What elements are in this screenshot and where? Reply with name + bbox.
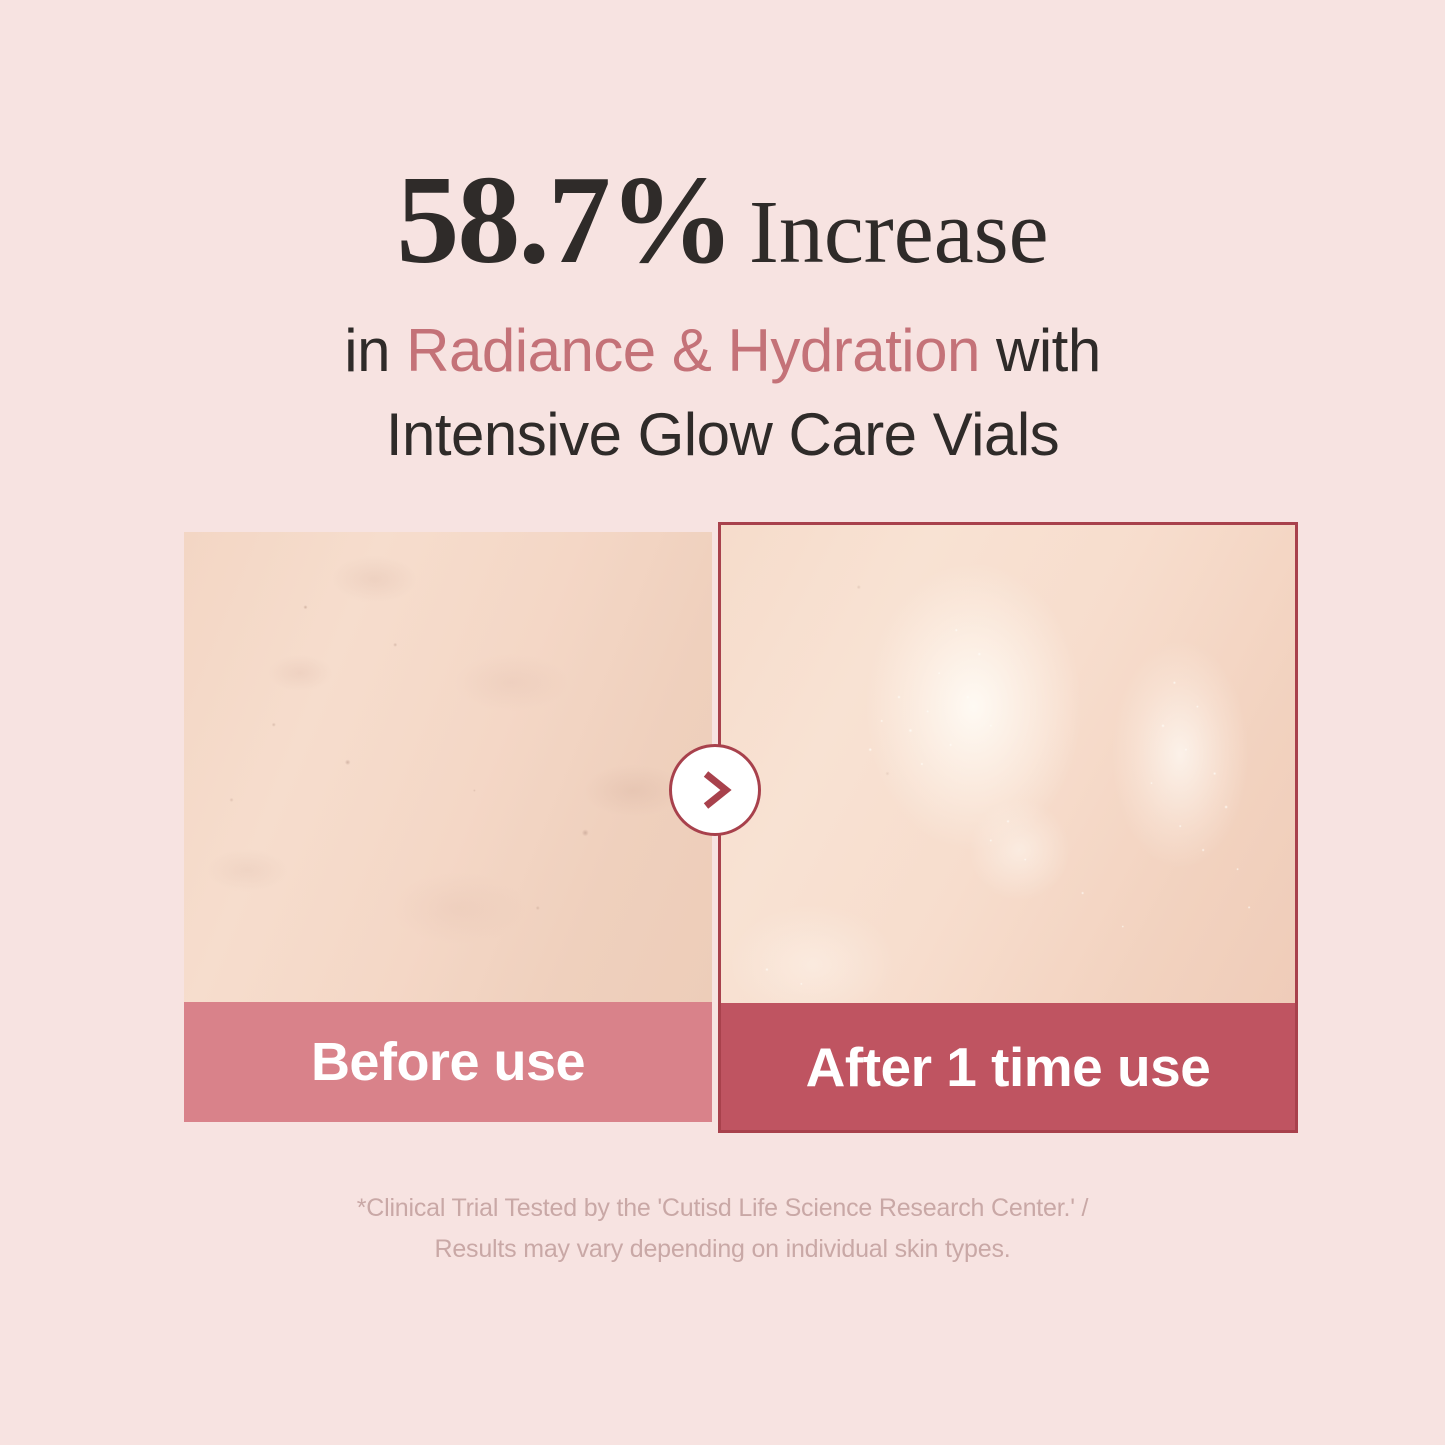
before-after-comparison: Before use After 1 time use [184,522,1298,1134]
before-label-text: Before use [311,1031,585,1093]
after-label-banner: After 1 time use [721,1003,1295,1130]
headline-percent: 58.7% [396,151,733,290]
footnote-line-2: Results may vary depending on individual… [0,1229,1445,1270]
subheadline-accent: Radiance & Hydration [406,317,980,384]
before-skin-photo [184,532,712,1002]
promo-banner: 58.7%Increase in Radiance & Hydration wi… [0,0,1445,1445]
subheadline-line-1: in Radiance & Hydration with [0,316,1445,385]
subheadline-line-2: Intensive Glow Care Vials [0,400,1445,469]
after-label-text: After 1 time use [806,1035,1211,1099]
after-skin-texture [721,525,1295,1003]
headline: 58.7%Increase [0,158,1445,284]
comparison-arrow-badge [669,744,761,836]
chevron-right-icon [695,767,735,813]
after-panel: After 1 time use [718,522,1298,1133]
footnote: *Clinical Trial Tested by the 'Cutisd Li… [0,1188,1445,1270]
before-skin-texture [184,532,712,1002]
subheadline-suffix: with [980,317,1101,384]
subheadline-prefix: in [344,317,406,384]
footnote-line-1: *Clinical Trial Tested by the 'Cutisd Li… [0,1188,1445,1229]
headline-word: Increase [749,183,1049,282]
before-panel: Before use [184,532,712,1122]
after-skin-photo [721,525,1295,1003]
before-label-banner: Before use [184,1002,712,1122]
